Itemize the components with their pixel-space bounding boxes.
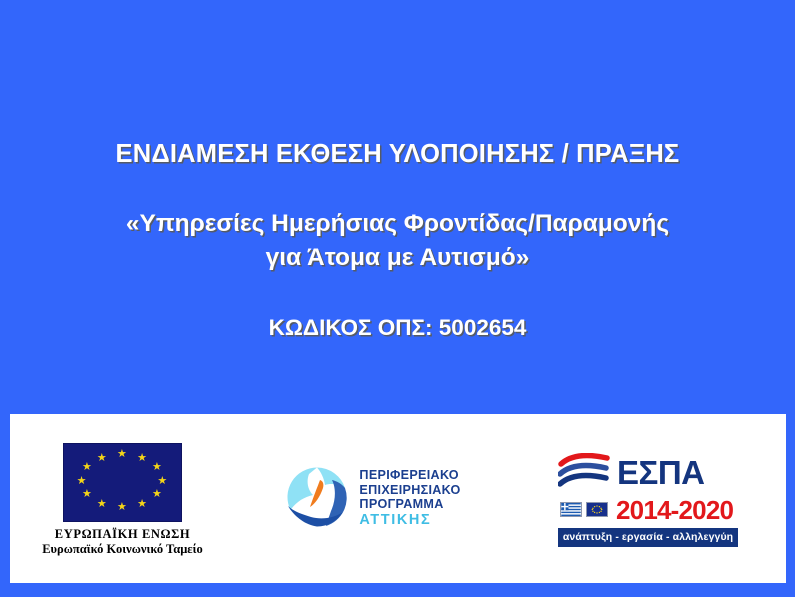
footer-logo-panel: ΕΥΡΩΠΑΪΚΗ ΕΝΩΣΗ Ευρωπαϊκό Κοινωνικό Ταμε… (10, 414, 786, 583)
eu-logo: ΕΥΡΩΠΑΪΚΗ ΕΝΩΣΗ Ευρωπαϊκό Κοινωνικό Ταμε… (10, 414, 235, 583)
regional-programme-line-3: ΠΡΟΓΡΑΜΜΑ (359, 497, 460, 512)
title-block: ΕΝΔΙΑΜΕΣΗ ΕΚΘΕΣΗ ΥΛΟΠΟΙΗΣΗΣ / ΠΡΑΞΗΣ «Υπ… (0, 140, 795, 341)
espa-flags (558, 502, 608, 517)
regional-programme-region: ΑΤΤΙΚΗΣ (359, 512, 460, 529)
regional-programme-line-1: ΠΕΡΙΦΕΡΕΙΑΚΟ (359, 468, 460, 483)
subtitle: «Υπηρεσίες Ημερήσιας Φροντίδας/Παραμονής… (0, 207, 795, 275)
european-union-flag-icon (586, 502, 608, 517)
presentation-slide: ΕΝΔΙΑΜΕΣΗ ΕΚΘΕΣΗ ΥΛΟΠΟΙΗΣΗΣ / ΠΡΑΞΗΣ «Υπ… (0, 0, 795, 597)
espa-wave-lines-icon (558, 453, 610, 493)
espa-tagline: ανάπτυξη - εργασία - αλληλεγγύη (558, 528, 738, 547)
subtitle-line-1: «Υπηρεσίες Ημερήσιας Φροντίδας/Παραμονής (0, 207, 795, 241)
greece-flag-icon (560, 502, 582, 517)
espa-period: 2014-2020 (616, 497, 733, 523)
regional-programme-logo: ΠΕΡΙΦΕΡΕΙΑΚΟ ΕΠΙΧΕΙΡΗΣΙΑΚΟ ΠΡΟΓΡΑΜΜΑ ΑΤΤ… (235, 414, 510, 583)
espa-logo: ΕΣΠΑ (510, 414, 786, 583)
page-title: ΕΝΔΙΑΜΕΣΗ ΕΚΘΕΣΗ ΥΛΟΠΟΙΗΣΗΣ / ΠΡΑΞΗΣ (0, 140, 795, 169)
european-union-flag-icon (63, 443, 182, 522)
project-code: ΚΩΔΙΚΟΣ ΟΠΣ: 5002654 (0, 315, 795, 341)
eu-logo-name: ΕΥΡΩΠΑΪΚΗ ΕΝΩΣΗ (42, 527, 203, 542)
regional-programme-line-2: ΕΠΙΧΕΙΡΗΣΙΑΚΟ (359, 483, 460, 498)
espa-wordmark: ΕΣΠΑ (617, 457, 704, 488)
attiki-swirl-emblem-icon (284, 466, 350, 532)
subtitle-line-2: για Άτομα με Αυτισμό» (0, 241, 795, 275)
eu-logo-fund: Ευρωπαϊκό Κοινωνικό Ταμείο (42, 542, 203, 558)
